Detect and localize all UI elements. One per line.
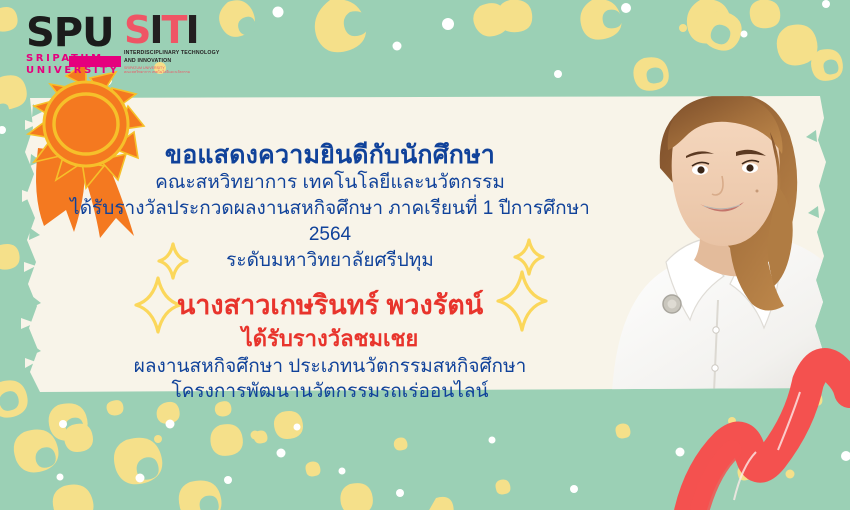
siti-subtitle-en-1: INTERDISCIPLINARY TECHNOLOGY: [124, 50, 244, 56]
siti-letter-s: S: [124, 8, 149, 52]
headline: ขอแสดงความยินดีกับนักศึกษา: [60, 140, 600, 170]
level-line: ระดับมหาวิทยาลัยศรีปทุม: [60, 248, 600, 274]
spu-wordmark: SPU: [26, 14, 119, 52]
logo-block: SPU SRIPATUM UNIVERSITY SITI INTERDISCIP…: [0, 8, 260, 70]
student-name: นางสาวเกษรินทร์ พวงรัตน์: [60, 286, 600, 324]
work-category: ผลงานสหกิจศึกษา ประเภทนวัตกรรมสหกิจศึกษา: [60, 354, 600, 379]
siti-wordmark: SITI: [124, 12, 244, 48]
siti-subtitle-en-2: AND INNOVATION: [124, 58, 244, 64]
award-competition-line: ได้รับรางวัลประกวดผลงานสหกิจศึกษา ภาคเรี…: [60, 196, 600, 248]
faculty-line: คณะสหวิทยาการ เทคโนโลยีและนวัตกรรม: [60, 170, 600, 196]
siti-letter-i: I: [149, 8, 161, 52]
siti-logo: SITI INTERDISCIPLINARY TECHNOLOGY AND IN…: [124, 12, 244, 75]
siti-letter-t: T: [162, 8, 186, 52]
project-title: โครงการพัฒนานวัตกรรมรถเร่ออนไลน์: [60, 379, 600, 404]
congratulations-poster: SPU SRIPATUM UNIVERSITY SITI INTERDISCIP…: [0, 0, 850, 510]
award-received: ได้รับรางวัลชมเชย: [60, 324, 600, 354]
siti-subtitle-th-2: คณะสหวิทยาการ เทคโนโลยีและนวัตกรรม: [124, 70, 244, 75]
siti-letter-i2: I: [185, 8, 197, 52]
spu-magenta-bar: [69, 56, 121, 67]
announcement-text: ขอแสดงความยินดีกับนักศึกษา คณะสหวิทยาการ…: [60, 140, 600, 404]
spu-logo: SPU SRIPATUM UNIVERSITY: [26, 14, 119, 76]
